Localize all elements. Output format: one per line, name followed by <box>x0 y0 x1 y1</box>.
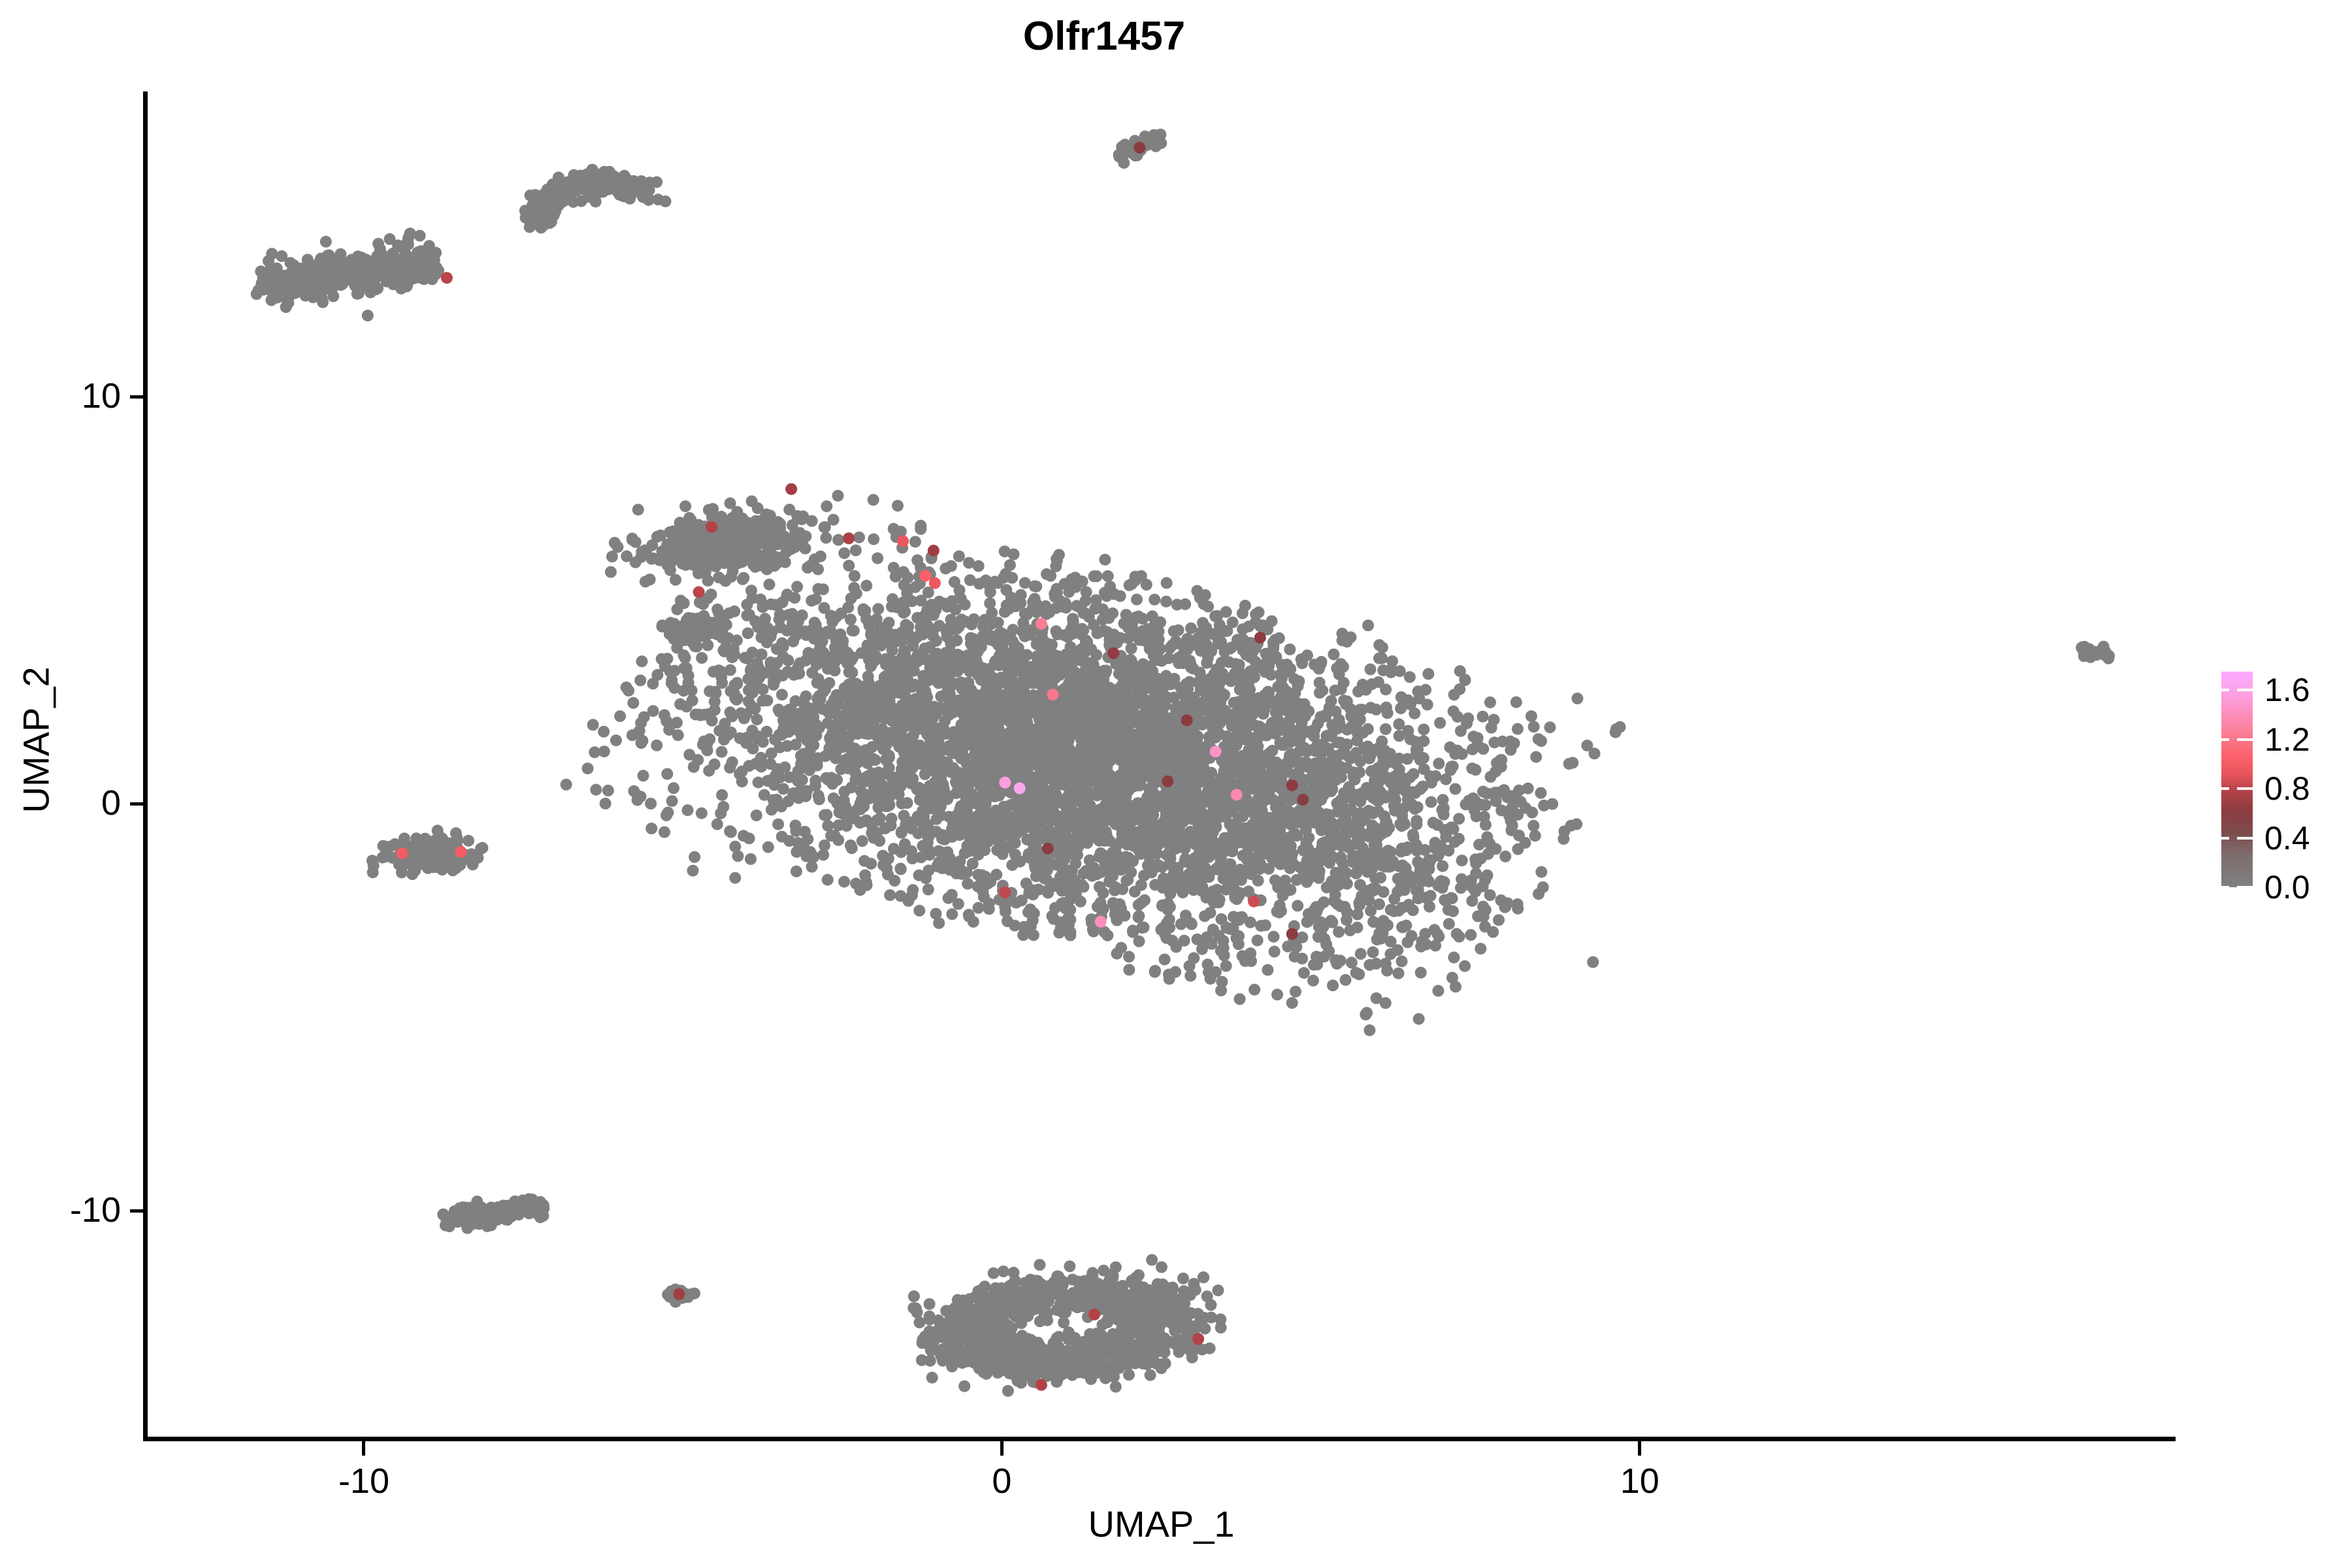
umap-feature-plot: Olfr1457 100-10 -10010 UMAP_1 UMAP_2 1.6… <box>0 0 2352 1568</box>
x-axis-title: UMAP_1 <box>147 1503 2176 1545</box>
colorbar-tick-mark-left <box>2221 738 2229 741</box>
x-tick-mark <box>1000 1441 1004 1456</box>
colorbar-tick-label: 0.4 <box>2264 822 2310 855</box>
x-tick-label: 0 <box>992 1461 1011 1501</box>
colorbar-tick-label: 1.6 <box>2264 674 2310 706</box>
colorbar-gradient <box>2221 672 2253 887</box>
x-axis-line <box>147 1437 2176 1441</box>
x-tick-label: -10 <box>338 1461 389 1501</box>
y-tick-mark <box>130 1209 143 1213</box>
colorbar-tick-label: 1.2 <box>2264 723 2310 756</box>
colorbar-tick-label: 0.8 <box>2264 772 2310 805</box>
y-axis-title: UMAP_2 <box>15 446 57 1034</box>
colorbar-tick-mark-left <box>2221 886 2229 889</box>
plot-panel <box>147 91 2176 1439</box>
y-tick-label: 10 <box>82 376 121 416</box>
y-tick-label: 0 <box>101 783 121 823</box>
scatter-points <box>147 91 2176 1439</box>
y-axis-line <box>143 91 148 1441</box>
colorbar-tick-mark <box>2237 689 2253 691</box>
colorbar-legend: 1.61.20.80.40.0 <box>2221 660 2352 908</box>
colorbar-tick-label: 0.0 <box>2264 871 2310 904</box>
colorbar-tick-mark <box>2237 738 2253 741</box>
colorbar-tick-mark-left <box>2221 689 2229 691</box>
x-tick-mark <box>362 1441 365 1456</box>
page-title: Olfr1457 <box>0 13 2208 59</box>
x-tick-label: 10 <box>1620 1461 1659 1501</box>
colorbar-tick-mark <box>2237 886 2253 889</box>
x-tick-mark <box>1638 1441 1641 1456</box>
colorbar-tick-mark <box>2237 837 2253 840</box>
colorbar-tick-mark <box>2237 787 2253 790</box>
colorbar-tick-mark-left <box>2221 787 2229 790</box>
y-tick-label: -10 <box>70 1190 121 1230</box>
y-tick-mark <box>130 395 143 399</box>
colorbar-tick-mark-left <box>2221 837 2229 840</box>
y-tick-mark <box>130 802 143 806</box>
